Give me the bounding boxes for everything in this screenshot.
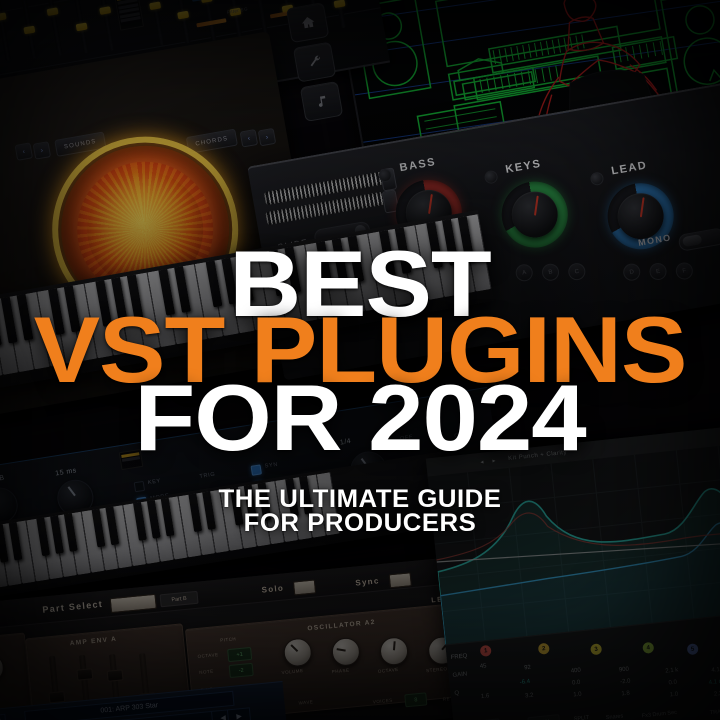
eq-band-gain: 4.1 dB <box>708 678 720 686</box>
lead-label: LEAD <box>610 159 648 177</box>
solo-toggle[interactable] <box>293 579 316 595</box>
preset-button[interactable]: B <box>541 262 561 282</box>
off-label: OFF <box>400 434 414 442</box>
toggle-label: TRIG <box>199 472 216 480</box>
sustain-handle[interactable] <box>107 669 124 681</box>
preset-button[interactable]: C <box>567 262 587 282</box>
wrench-icon[interactable] <box>293 42 337 83</box>
eq-foot-text: SPLIT <box>574 715 590 720</box>
bass-label: BASS <box>399 156 437 174</box>
keys-knob-group: KEYS <box>497 176 573 252</box>
eq-foot-text: TRANSIENT Snare <box>710 705 720 716</box>
preset-button[interactable]: D <box>622 262 642 282</box>
mono-toggle[interactable] <box>678 227 720 252</box>
lead-led <box>589 171 604 186</box>
eq-prev-preset[interactable]: ◂ <box>480 459 484 466</box>
eq-band-gain: -2.0 <box>620 678 631 685</box>
prev-chord-button[interactable]: ‹ <box>240 129 259 148</box>
lcd-next-button[interactable]: ▶ <box>227 707 251 720</box>
voices-value[interactable]: 8 <box>404 692 427 707</box>
division-value: 1/4 <box>340 438 352 447</box>
eq-band-q: 1.8 <box>621 691 630 698</box>
eq-band-gain: 3.2 <box>525 693 534 700</box>
keys-knob[interactable] <box>497 176 573 252</box>
poster-canvas: Feedback Filter EG ‹ › SOUNDS CHORDS ‹ ›… <box>0 0 720 720</box>
eq-curve-graph[interactable] <box>428 441 720 646</box>
eq-band-freq: 92 <box>524 665 531 672</box>
eq-band-freq: 400 <box>571 668 582 675</box>
eq-band-q: -6.4 <box>519 679 530 686</box>
eq-next-preset[interactable]: ▸ <box>492 457 496 464</box>
preset-list <box>114 0 144 31</box>
home-icon[interactable] <box>286 2 330 43</box>
eq-plugin: ◂ ▸ Kit Punch + Clarity FREQ <box>426 423 720 720</box>
next-chord-button[interactable]: › <box>258 128 277 147</box>
lcd-tab[interactable]: 4 <box>0 714 7 720</box>
on-label: ON <box>454 432 464 439</box>
octave-value[interactable]: +1 <box>227 647 252 662</box>
gain-row-label: GAIN <box>452 671 467 679</box>
music-note-icon[interactable] <box>300 81 344 122</box>
note-value[interactable]: -2 <box>229 663 254 678</box>
eq-foot-text: Snares <box>606 713 624 720</box>
eq-band-gain: 1.6 <box>481 693 490 700</box>
next-sound-button[interactable]: › <box>33 141 52 160</box>
eq-band-dot[interactable]: 4 <box>642 642 654 654</box>
decay-handle[interactable] <box>76 668 93 680</box>
eq-band-freq: 900 <box>619 666 630 673</box>
db-value: 0.0 dB <box>0 475 5 486</box>
sync-toggle[interactable] <box>389 572 412 588</box>
eq-band-dot[interactable]: 3 <box>590 643 602 655</box>
q-row-label: Q <box>454 690 459 696</box>
eq-band-freq: 45 <box>480 663 487 670</box>
eq-band-q: 1.0 <box>670 691 679 698</box>
mode-display <box>119 449 144 470</box>
toggle-checkbox[interactable] <box>251 464 262 475</box>
pan-tab-button[interactable]: PAN <box>527 714 560 720</box>
freq-row-label: FREQ <box>450 653 467 661</box>
eq-band-freq: 4.1 k <box>711 667 720 674</box>
eq-band-q: 2.2 <box>714 691 720 698</box>
eq-band-gain: 0.0 <box>668 680 677 687</box>
eq-band-freq: 2.1 k <box>665 667 679 674</box>
preset-button[interactable]: A <box>514 263 534 283</box>
toggle-label: SYN <box>264 462 278 470</box>
prev-sound-button[interactable]: ‹ <box>15 142 34 161</box>
eq-band-dot[interactable]: 1 <box>480 645 492 657</box>
toggle-label: KEY <box>147 478 161 486</box>
ms-value: 15 ms <box>55 467 77 477</box>
eq-band-gain: 0.0 <box>572 680 581 687</box>
eq-band-dot[interactable]: 5 <box>687 643 699 655</box>
preset-button[interactable]: E <box>648 262 668 282</box>
keys-led <box>484 170 499 185</box>
eq-band-dot[interactable]: 2 <box>538 643 550 655</box>
preset-button[interactable]: F <box>674 261 694 281</box>
eq-foot-text: Fx3 Drum Sec <box>642 710 678 720</box>
toggle-checkbox[interactable] <box>134 481 145 492</box>
keys-label: KEYS <box>505 158 543 176</box>
eq-band-q: 1.0 <box>573 692 582 699</box>
